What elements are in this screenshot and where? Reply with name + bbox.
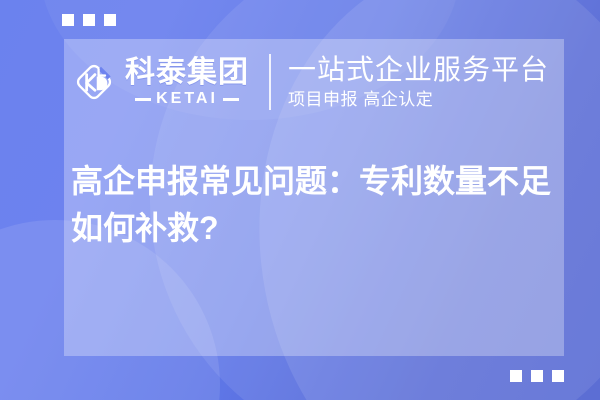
slogan-sub: 项目申报 高企认定 [288,89,549,111]
promo-banner: 科泰集团 KETAI 一站式企业服务平台 项目申报 高企认定 高企申报常见问题：… [0,0,600,400]
page-title: 高企申报常见问题：专利数量不足如何补救? [71,158,559,252]
square-dot-icon [510,370,522,382]
slogan-main: 一站式企业服务平台 [288,54,549,86]
brand-wordmark: 科泰集团 KETAI [125,57,249,107]
brand-name-en: KETAI [156,91,218,107]
brand-name-cn: 科泰集团 [125,57,249,89]
wordmark-rule-right [223,98,239,101]
square-dot-icon [531,370,543,382]
slogan-block: 一站式企业服务平台 项目申报 高企认定 [288,54,549,111]
brand-name-en-row: KETAI [135,91,239,107]
decorative-dots-top-left [62,14,116,26]
square-dot-icon [552,370,564,382]
ketai-kd-diamond-logo-icon [71,59,117,105]
square-dot-icon [83,14,95,26]
square-dot-icon [62,14,74,26]
wordmark-rule-left [135,98,151,101]
brand-header: 科泰集团 KETAI 一站式企业服务平台 项目申报 高企认定 [71,46,549,118]
square-dot-icon [104,14,116,26]
decorative-dots-bottom-right [510,370,564,382]
vertical-divider [269,54,271,110]
content-card: 科泰集团 KETAI 一站式企业服务平台 项目申报 高企认定 高企申报常见问题：… [64,39,564,356]
